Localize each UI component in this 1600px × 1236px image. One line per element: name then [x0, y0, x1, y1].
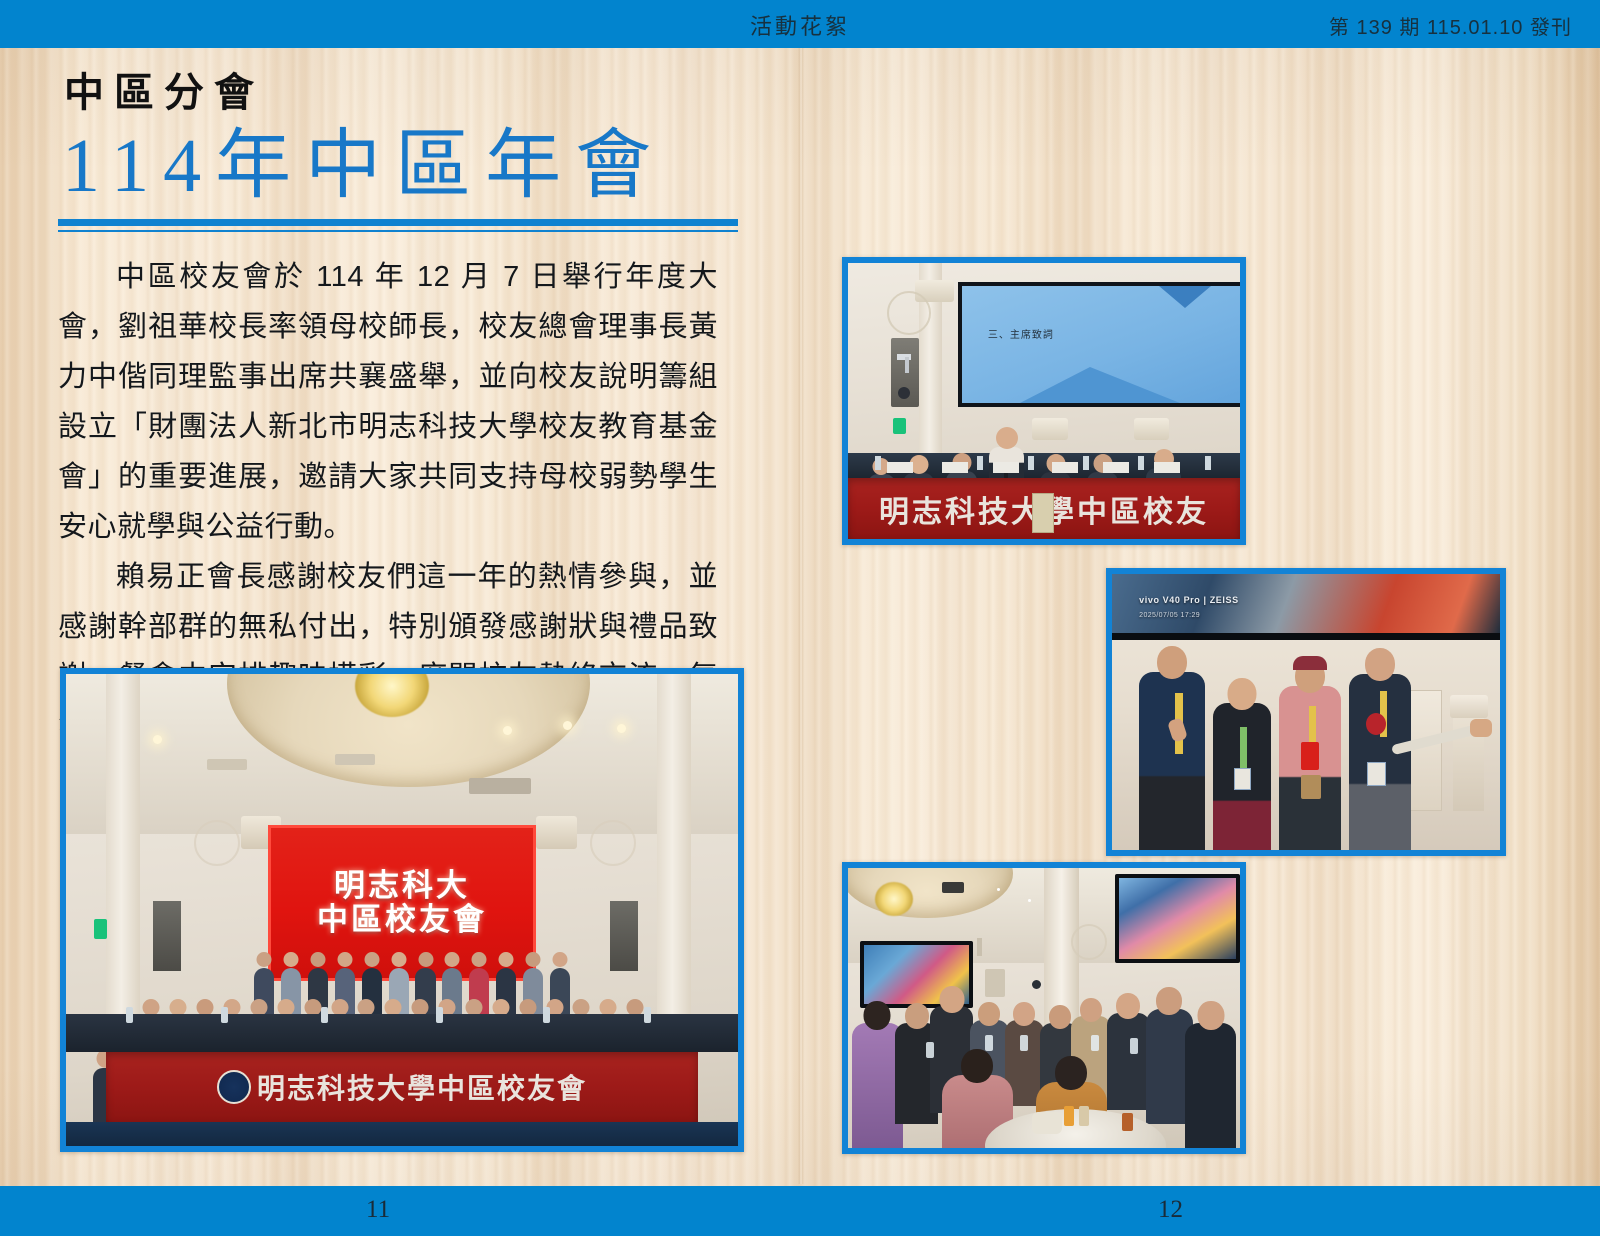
page-number-right: 12	[1158, 1196, 1183, 1224]
page-header-bar: 活動花絮 第 139 期 115.01.10 發刊	[0, 0, 1600, 48]
article-paragraph-1: 中區校友會於 114 年 12 月 7 日舉行年度大會，劉祖華校長率領母校師長，…	[58, 252, 718, 552]
screen-overlay-brand: vivo V40 Pro | ZEISS	[1139, 595, 1239, 605]
title-rule	[58, 219, 738, 232]
event-banner-text: 明志科技大學中區校友會	[257, 1067, 587, 1107]
article-kicker: 中區分會	[64, 70, 750, 116]
university-seal-icon	[217, 1070, 251, 1104]
projection-screen: 三、主席致詞	[958, 282, 1240, 406]
article-column: 中區分會 114年中區年會 中區校友會於 114 年 12 月 7 日舉行年度大…	[58, 70, 750, 752]
event-banner: 明志科技大學中區校友會	[106, 1052, 697, 1123]
screen-overlay-timestamp: 2025/07/05 17:29	[1139, 612, 1200, 619]
header-issue-info: 第 139 期 115.01.10 發刊	[1329, 11, 1572, 40]
slide-agenda-text: 三、主席致詞	[988, 326, 1054, 341]
right-wall-screen	[1115, 874, 1240, 964]
page-number-left: 11	[366, 1196, 390, 1224]
page-title: 114年中區年會	[62, 120, 750, 213]
annual-meeting-group-photo: 明志科大 中區校友會	[60, 668, 744, 1152]
chairman-address-stage-photo: 三、主席致詞 明	[842, 257, 1246, 545]
banquet-toast-photo	[842, 862, 1246, 1154]
page-footer-bar: 11 12	[0, 1186, 1600, 1236]
overhead-video-screen: vivo V40 Pro | ZEISS 2025/07/05 17:29	[1112, 574, 1500, 640]
led-screen-line-1: 明志科大	[334, 869, 470, 902]
lucky-draw-award-photo: vivo V40 Pro | ZEISS 2025/07/05 17:29	[1106, 568, 1506, 856]
